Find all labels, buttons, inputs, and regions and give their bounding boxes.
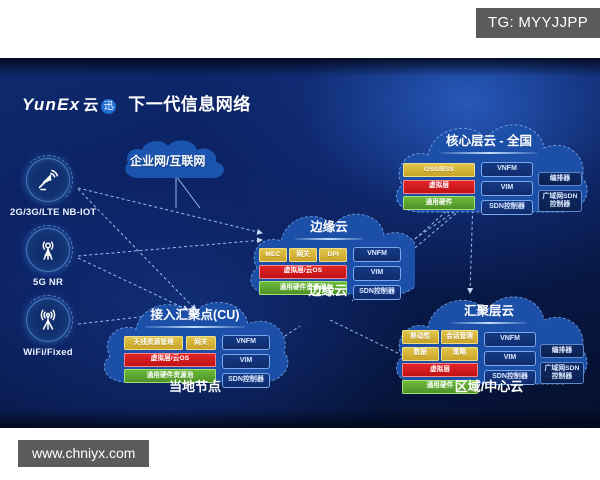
mano-box: SDN控制器 (481, 200, 533, 215)
cloud-access-aggregation: 接入汇聚点(CU) 天线资源管理 网关 虚拟层/云OS 通用硬件资源池 VNFM… (96, 280, 294, 390)
mano-box: VNFM (484, 332, 536, 347)
stack-row: 数据 策略 (402, 347, 478, 361)
cloud-access-outside-label: 当地节点 (150, 376, 240, 395)
cloud-title: 边缘云 (243, 216, 415, 240)
mano-box: VIM (222, 354, 270, 369)
cloud-edge-outside-label: 边缘云 (283, 280, 373, 299)
stack-row: MEC 网关 DPI (259, 248, 347, 262)
tg-badge: TG: MYYJJPP (476, 8, 600, 38)
page-title: 下一代信息网络 (128, 90, 251, 115)
cloud-title: 汇聚层云 (386, 300, 592, 324)
swoosh-icon: 迅 (101, 99, 116, 114)
site-watermark: www.chniyx.com (18, 440, 149, 467)
access-node-label: WiFi/Fixed (10, 347, 86, 358)
mano-box: VIM (481, 181, 533, 196)
cloud-aggregation-layer: 汇聚层云 移动性 会话管理 数据 策略 虚拟层 通用硬件 (386, 270, 592, 392)
mano-box: VNFM (481, 162, 533, 177)
cell-tower-icon (26, 228, 70, 272)
cloud-orchestrator-column: 编排器 广域网SDN 控制器 (540, 344, 584, 384)
cloud-title-text: 汇聚层云 (464, 304, 514, 318)
brand-name-cn: 云 (83, 94, 98, 115)
function-chip: 网关 (289, 248, 317, 262)
orchestrator-box: 编排器 (538, 172, 582, 186)
wan-sdn-controller-box: 广域网SDN 控制器 (540, 362, 584, 384)
stack-row: 移动性 会话管理 (402, 330, 478, 344)
function-chip: OSS/BSS (403, 163, 475, 177)
title-underline (295, 238, 363, 240)
function-chip: 网关 (186, 336, 216, 350)
access-node-label: 2G/3G/LTE NB-IOT (10, 207, 86, 218)
function-chip: DPI (319, 248, 347, 262)
access-node-5gnr: 5G NR (10, 228, 86, 288)
title-underline (145, 326, 245, 328)
cloud-aggregation-outside-label: 区域/中心云 (434, 376, 544, 395)
function-chip: 会话管理 (441, 330, 478, 344)
mano-box: VNFM (222, 335, 270, 350)
cloud-title: 核心层云 - 全国 (386, 130, 592, 154)
wifi-antenna-icon (26, 298, 70, 342)
cloud-title-text: 核心层云 - 全国 (446, 134, 532, 148)
access-node-wifi-fixed: WiFi/Fixed (10, 298, 86, 358)
stack-row: 虚拟层/云OS (259, 265, 347, 279)
cloud-orchestrator-column: 编排器 广域网SDN 控制器 (538, 172, 582, 212)
orchestrator-box: 编排器 (540, 344, 584, 358)
mano-box: VNFM (353, 247, 401, 262)
function-chip: 虚拟层/云OS (124, 353, 216, 367)
cloud-core-layer: 核心层云 - 全国 OSS/BSS 虚拟层 通用硬件 VNFM VIM SDN控… (386, 100, 592, 220)
function-chip: 策略 (441, 347, 478, 361)
title-underline (441, 152, 537, 154)
function-chip: 数据 (402, 347, 439, 361)
wan-sdn-controller-box: 广域网SDN 控制器 (538, 190, 582, 212)
function-chip: MEC (259, 248, 287, 262)
function-chip: 天线资源管理 (124, 336, 183, 350)
title-underline (452, 322, 526, 324)
function-chip: 移动性 (402, 330, 439, 344)
stack-row: OSS/BSS (403, 163, 475, 177)
cloud-title-text: 接入汇聚点(CU) (151, 308, 240, 322)
cloud-title: 接入汇聚点(CU) (96, 304, 294, 328)
cloud-mano-column: VNFM VIM SDN控制器 (481, 162, 533, 215)
satellite-dish-icon (26, 158, 70, 202)
slide-title-group: YunEx 云 迅 下一代信息网络 (22, 90, 251, 115)
cloud-label: 企业网/互联网 (130, 152, 205, 169)
presentation-slide: YunEx 云 迅 下一代信息网络 2G/3G/LTE NB-I (0, 58, 600, 428)
stack-row: 虚拟层/云OS (124, 353, 216, 367)
stack-row: 天线资源管理 网关 (124, 336, 216, 350)
function-chip: 虚拟层/云OS (259, 265, 347, 279)
mano-box: VIM (484, 351, 536, 366)
brand-name-en: YunEx (22, 95, 80, 115)
cloud-enterprise-internet: 企业网/互联网 (118, 136, 234, 182)
cloud-title-text: 边缘云 (310, 220, 348, 234)
access-node-2g3glte: 2G/3G/LTE NB-IOT (10, 158, 86, 218)
access-node-label: 5G NR (10, 277, 86, 288)
screenshot-root: TG: MYYJJPP (0, 0, 600, 480)
